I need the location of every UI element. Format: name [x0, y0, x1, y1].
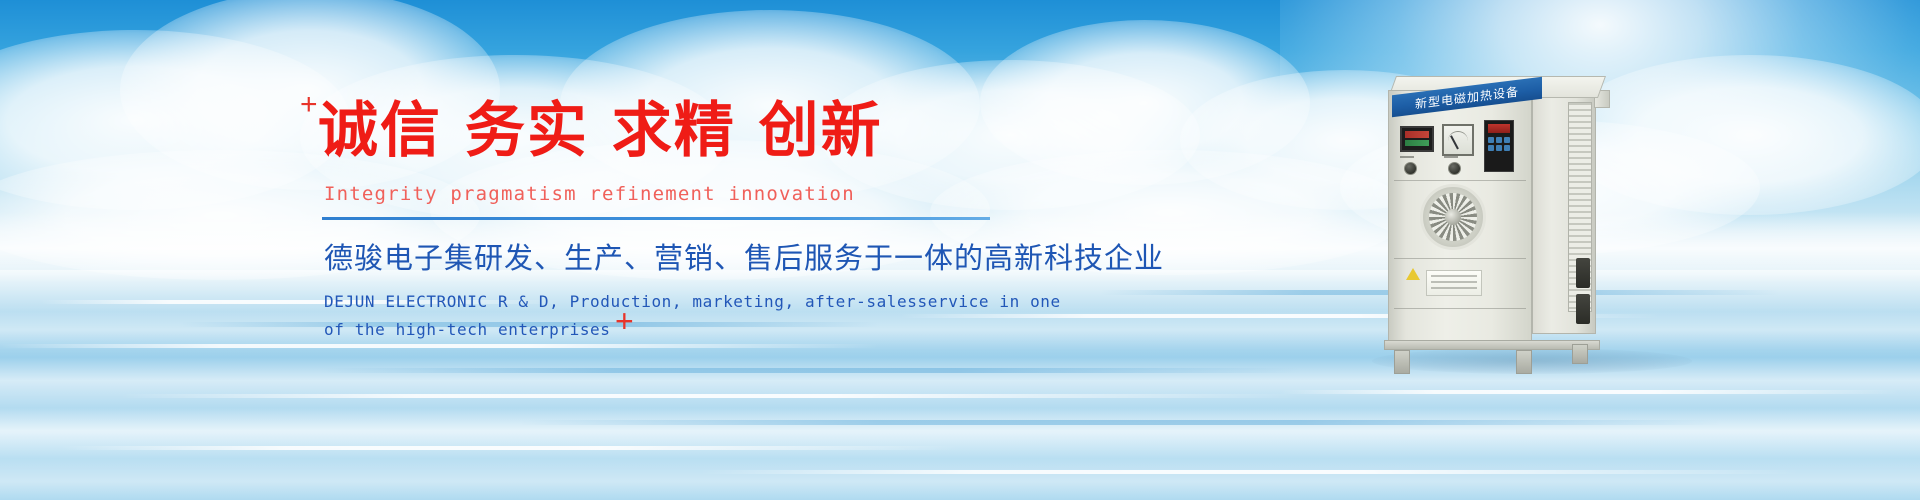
keypad-key — [1504, 145, 1510, 151]
subheadline-english-line-2: of the high-tech enterprises — [324, 316, 1018, 344]
control-tick — [1400, 156, 1414, 158]
side-exhaust-vent — [1576, 294, 1590, 324]
headline-english: Integrity pragmatism refinement innovati… — [324, 183, 1018, 205]
sticker-line — [1431, 287, 1477, 289]
product-image-heating-cabinet: 新型电磁加热设备 — [1380, 62, 1680, 362]
promo-banner: + + 诚信 务实 求精 创新 Integrity pragmatism ref… — [0, 0, 1920, 500]
cabinet-base-bar — [1384, 340, 1600, 350]
cabinet-foot-right — [1516, 350, 1532, 374]
control-keypad — [1484, 120, 1514, 172]
cabinet-foot-rear — [1572, 344, 1588, 364]
divider-rule — [322, 217, 990, 220]
display-segment-green — [1405, 140, 1429, 146]
keypad-key — [1496, 145, 1502, 151]
keypad-key — [1496, 137, 1502, 143]
panel-seam — [1394, 180, 1526, 181]
panel-seam — [1394, 258, 1526, 259]
control-knob-right — [1448, 162, 1461, 175]
plus-decoration-top: + — [300, 90, 318, 120]
display-segment-red — [1405, 131, 1429, 138]
banner-copy: 诚信 务实 求精 创新 Integrity pragmatism refinem… — [318, 96, 1018, 344]
headline-chinese: 诚信 务实 求精 创新 — [318, 96, 1018, 167]
panel-seam — [1394, 308, 1526, 309]
keypad-keys — [1488, 137, 1510, 151]
sticker-line — [1431, 275, 1477, 277]
keypad-key — [1488, 145, 1494, 151]
keypad-key — [1504, 137, 1510, 143]
sticker-line — [1431, 281, 1477, 283]
spec-sticker — [1426, 270, 1482, 296]
subheadline-english: DEJUN ELECTRONIC R & D, Production, mark… — [324, 288, 1018, 344]
warning-triangle-icon — [1406, 268, 1420, 280]
control-tick — [1444, 156, 1458, 158]
cabinet-foot-left — [1394, 350, 1410, 374]
subheadline-chinese: 德骏电子集研发、生产、营销、售后服务于一体的高新科技企业 — [324, 240, 1018, 276]
digital-controller-display — [1400, 126, 1434, 152]
keypad-key — [1488, 137, 1494, 143]
side-exhaust-vent — [1576, 258, 1590, 288]
subheadline-english-line-1: DEJUN ELECTRONIC R & D, Production, mark… — [324, 288, 1018, 316]
analog-gauge — [1442, 124, 1474, 156]
cooling-fan-grille — [1420, 184, 1486, 250]
keypad-screen — [1488, 124, 1510, 133]
control-knob-left — [1404, 162, 1417, 175]
